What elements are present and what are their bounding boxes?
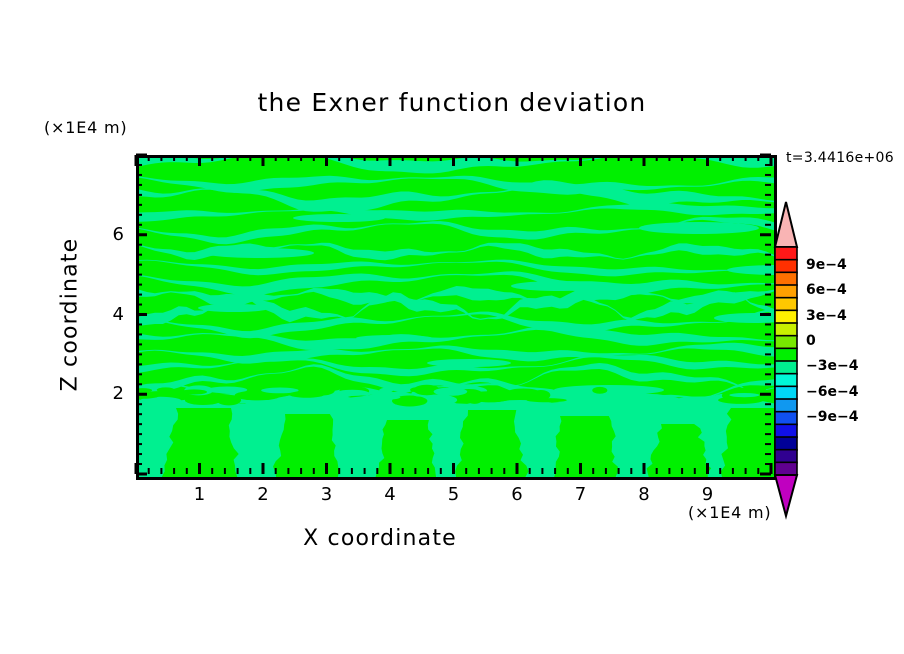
colorbar-tick-label: 6e−4 bbox=[806, 282, 847, 298]
x-tick-label: 9 bbox=[693, 484, 723, 505]
x-tick-label: 6 bbox=[502, 484, 532, 505]
colorbar bbox=[770, 196, 810, 520]
x-tick-label: 8 bbox=[629, 484, 659, 505]
colorbar-tick-label: 3e−4 bbox=[806, 308, 847, 324]
colorbar-tick-label: 0 bbox=[806, 333, 816, 349]
colorbar-tick-label: −6e−4 bbox=[806, 384, 858, 400]
page-title: the Exner function deviation bbox=[0, 88, 904, 117]
x-tick-label: 4 bbox=[375, 484, 405, 505]
x-axis-units-label: (×1E4 m) bbox=[688, 503, 771, 522]
colorbar-tick-label: −3e−4 bbox=[806, 358, 858, 374]
contour-field bbox=[139, 158, 774, 477]
x-axis-title: X coordinate bbox=[0, 526, 760, 551]
x-tick-label: 2 bbox=[248, 484, 278, 505]
y-tick-label: 2 bbox=[94, 383, 124, 404]
x-tick-label: 1 bbox=[185, 484, 215, 505]
y-tick-label: 4 bbox=[94, 304, 124, 325]
figure-canvas: the Exner function deviation (×1E4 m) t=… bbox=[0, 0, 904, 654]
y-axis-units-label: (×1E4 m) bbox=[44, 118, 127, 137]
x-tick-label: 3 bbox=[312, 484, 342, 505]
colorbar-tick-label: 9e−4 bbox=[806, 257, 847, 273]
contour-plot-area bbox=[136, 155, 777, 480]
x-tick-label: 7 bbox=[566, 484, 596, 505]
y-tick-label: 6 bbox=[94, 224, 124, 245]
x-tick-label: 5 bbox=[439, 484, 469, 505]
y-axis-title: Z coordinate bbox=[58, 205, 83, 425]
timestamp-label: t=3.4416e+06 bbox=[786, 150, 894, 166]
colorbar-tick-label: −9e−4 bbox=[806, 409, 858, 425]
